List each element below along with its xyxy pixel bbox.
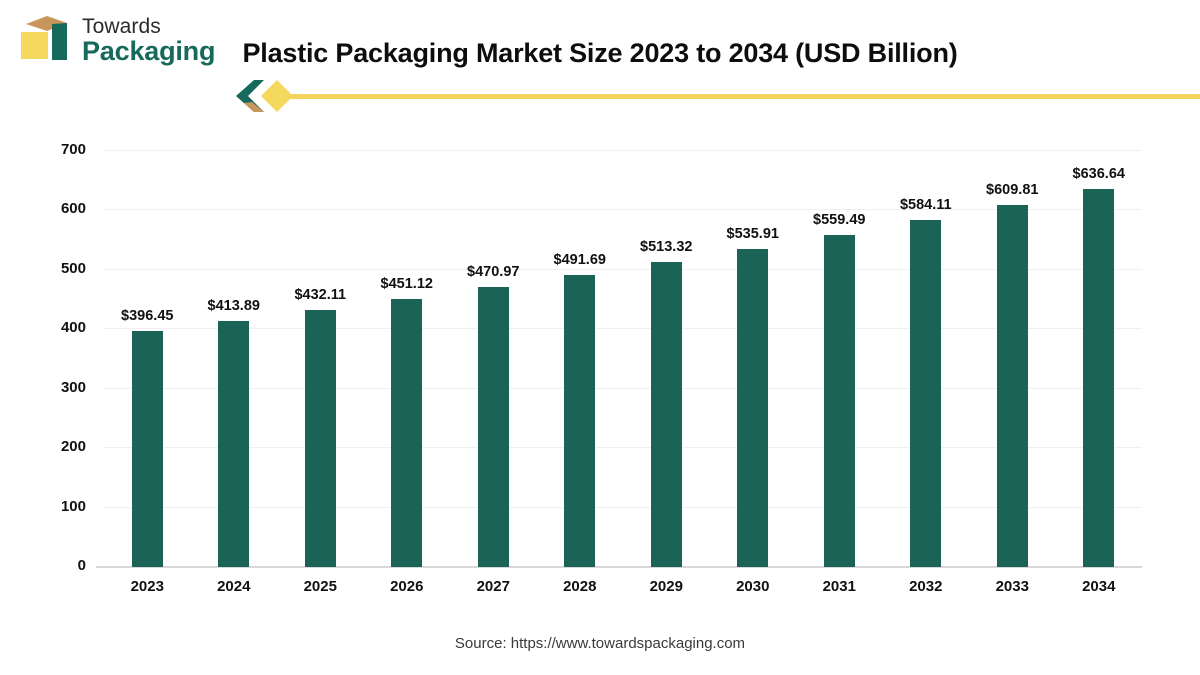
bar-slot[interactable]: $396.45 bbox=[104, 150, 191, 567]
bar[interactable] bbox=[132, 331, 163, 567]
x-axis-tick-label: 2025 bbox=[277, 578, 364, 595]
y-axis-tick-label: 0 bbox=[26, 557, 86, 574]
bar[interactable] bbox=[1083, 189, 1114, 567]
bar-value-label: $470.97 bbox=[467, 264, 519, 280]
bar-slot[interactable]: $513.32 bbox=[623, 150, 710, 567]
y-axis-tick-label: 700 bbox=[26, 141, 86, 158]
source-caption: Source: https://www.towardspackaging.com bbox=[0, 635, 1200, 652]
x-axis-tick-label: 2026 bbox=[364, 578, 451, 595]
bar-slot[interactable]: $432.11 bbox=[277, 150, 364, 567]
bar-value-label: $451.12 bbox=[381, 276, 433, 292]
x-axis-tick-label: 2033 bbox=[969, 578, 1056, 595]
bar-slot[interactable]: $559.49 bbox=[796, 150, 883, 567]
bar[interactable] bbox=[997, 205, 1028, 567]
bar[interactable] bbox=[478, 287, 509, 567]
bar-slot[interactable]: $491.69 bbox=[537, 150, 624, 567]
bar-series: $396.45$413.89$432.11$451.12$470.97$491.… bbox=[104, 150, 1142, 567]
bar-value-label: $413.89 bbox=[208, 298, 260, 314]
y-axis-tick-label: 600 bbox=[26, 200, 86, 217]
bar[interactable] bbox=[218, 321, 249, 567]
x-axis-labels: 2023202420252026202720282029203020312032… bbox=[104, 578, 1142, 595]
bar-slot[interactable]: $451.12 bbox=[364, 150, 451, 567]
bar[interactable] bbox=[910, 220, 941, 567]
x-axis-tick-label: 2031 bbox=[796, 578, 883, 595]
chart-plot-area: 0100200300400500600700 $396.45$413.89$43… bbox=[0, 0, 1200, 675]
y-axis-tick-label: 400 bbox=[26, 319, 86, 336]
x-axis-tick-label: 2023 bbox=[104, 578, 191, 595]
bar-value-label: $535.91 bbox=[727, 226, 779, 242]
y-axis-tick-label: 500 bbox=[26, 260, 86, 277]
bar[interactable] bbox=[305, 310, 336, 567]
bar-value-label: $491.69 bbox=[554, 252, 606, 268]
bar[interactable] bbox=[737, 249, 768, 567]
bar-value-label: $513.32 bbox=[640, 239, 692, 255]
bar-slot[interactable]: $584.11 bbox=[883, 150, 970, 567]
bar[interactable] bbox=[824, 235, 855, 567]
bar-slot[interactable]: $535.91 bbox=[710, 150, 797, 567]
bar-value-label: $559.49 bbox=[813, 212, 865, 228]
x-axis-tick-label: 2034 bbox=[1056, 578, 1143, 595]
y-axis-tick-label: 300 bbox=[26, 379, 86, 396]
x-axis-tick-label: 2024 bbox=[191, 578, 278, 595]
bar-slot[interactable]: $636.64 bbox=[1056, 150, 1143, 567]
bar-value-label: $432.11 bbox=[294, 287, 346, 303]
bar[interactable] bbox=[391, 299, 422, 567]
x-axis-tick-label: 2030 bbox=[710, 578, 797, 595]
y-axis-tick-label: 200 bbox=[26, 438, 86, 455]
x-axis-tick-label: 2027 bbox=[450, 578, 537, 595]
y-axis-tick-label: 100 bbox=[26, 498, 86, 515]
bar-value-label: $584.11 bbox=[900, 197, 952, 213]
bar-value-label: $636.64 bbox=[1073, 166, 1125, 182]
bar[interactable] bbox=[651, 262, 682, 567]
x-axis-tick-label: 2032 bbox=[883, 578, 970, 595]
bar-slot[interactable]: $470.97 bbox=[450, 150, 537, 567]
bar[interactable] bbox=[564, 275, 595, 567]
bar-value-label: $609.81 bbox=[986, 182, 1038, 198]
bar-value-label: $396.45 bbox=[121, 308, 173, 324]
x-axis-tick-label: 2029 bbox=[623, 578, 710, 595]
chart-page: Towards Packaging Plastic Packaging Mark… bbox=[0, 0, 1200, 675]
bar-slot[interactable]: $413.89 bbox=[191, 150, 278, 567]
x-axis-tick-label: 2028 bbox=[537, 578, 624, 595]
bar-slot[interactable]: $609.81 bbox=[969, 150, 1056, 567]
